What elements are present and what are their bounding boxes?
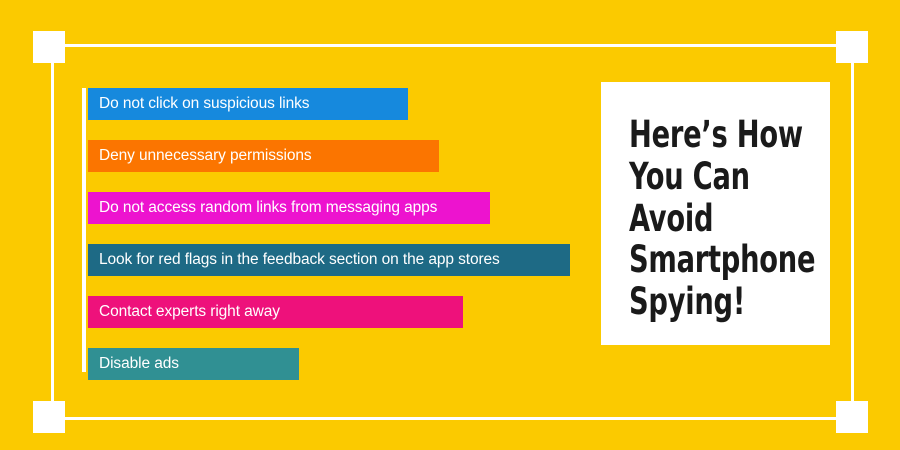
frame-corner-bottom-left [33, 401, 65, 433]
frame-line-top [45, 44, 845, 47]
tip-bar: Contact experts right away [88, 296, 463, 328]
tip-label: Contact experts right away [99, 304, 280, 320]
tips-list: Do not click on suspicious linksDeny unn… [88, 88, 588, 380]
tips-rail [82, 88, 86, 372]
tip-label: Do not access random links from messagin… [99, 200, 437, 216]
tip-bar: Do not access random links from messagin… [88, 192, 490, 224]
frame-corner-top-right [836, 31, 868, 63]
tip-bar: Deny unnecessary permissions [88, 140, 439, 172]
tip-label: Disable ads [99, 356, 179, 372]
frame-corner-bottom-right [836, 401, 868, 433]
frame-corner-top-left [33, 31, 65, 63]
tip-label: Deny unnecessary permissions [99, 148, 312, 164]
frame-line-left [51, 38, 54, 423]
tip-bar: Look for red flags in the feedback secti… [88, 244, 570, 276]
tip-label: Look for red flags in the feedback secti… [99, 252, 500, 268]
tip-bar: Do not click on suspicious links [88, 88, 408, 120]
tip-label: Do not click on suspicious links [99, 96, 309, 112]
headline-title: Here’s How You Can Avoid Smartphone Spyi… [629, 114, 806, 323]
frame-line-bottom [45, 417, 845, 420]
headline-card: Here’s How You Can Avoid Smartphone Spyi… [601, 82, 830, 345]
tip-bar: Disable ads [88, 348, 299, 380]
frame-line-right [851, 38, 854, 423]
infographic-poster: Do not click on suspicious linksDeny unn… [0, 0, 900, 450]
